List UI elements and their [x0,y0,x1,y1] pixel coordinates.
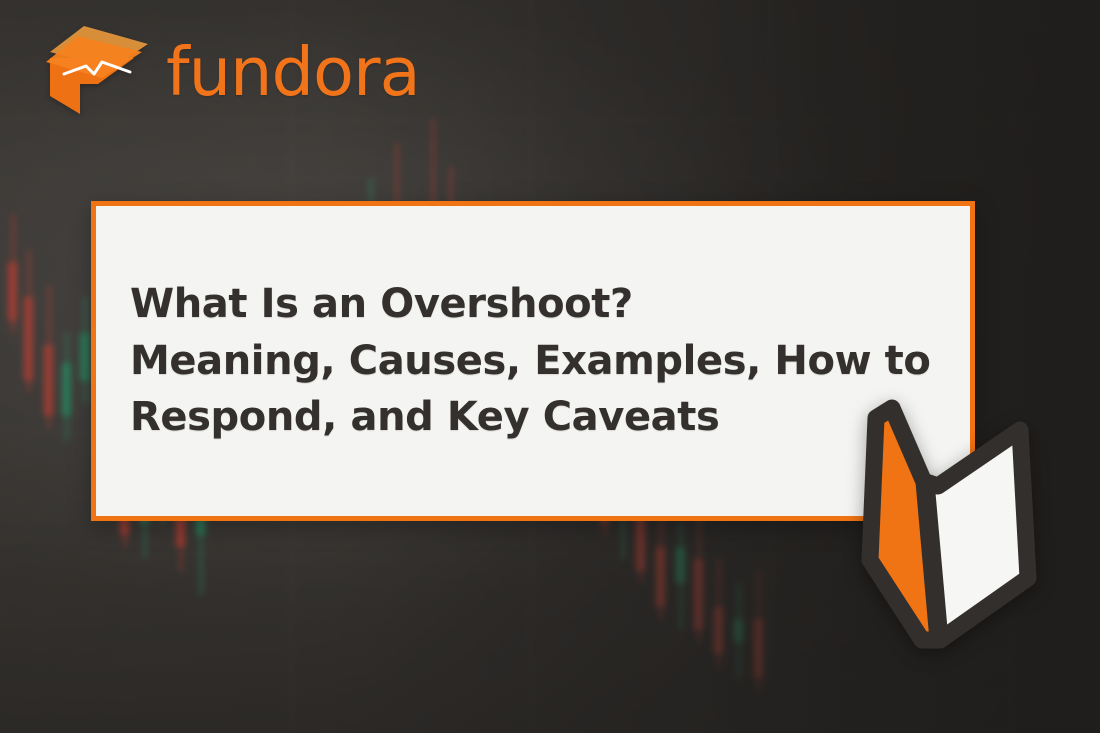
page-title: What Is an Overshoot? Meaning, Causes, E… [130,276,936,446]
cover-canvas: fundora What Is an Overshoot? Meaning, C… [0,0,1100,733]
brand-lockup[interactable]: fundora [38,22,420,118]
title-card: What Is an Overshoot? Meaning, Causes, E… [91,201,975,521]
brand-wordmark: fundora [166,39,420,106]
fundora-logo-icon [38,22,158,118]
open-book-icon [852,390,1048,658]
